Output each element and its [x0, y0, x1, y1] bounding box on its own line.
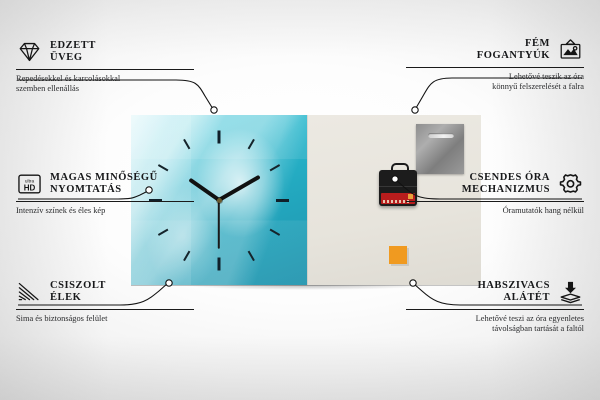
- foam-spacer-pad: [389, 246, 407, 264]
- hour-tick-6: [218, 257, 221, 270]
- metal-hanger-plate: [416, 124, 464, 174]
- callout-title-line2: ÉLEK: [50, 292, 106, 304]
- callout-foam-pad[interactable]: HABSZIVACS ALÁTÉT Lehetővé teszi az óra …: [406, 280, 584, 335]
- callout-title-line1: MAGAS MINŐSÉGŰ: [50, 172, 158, 184]
- callout-title-line1: CSISZOLT: [50, 280, 106, 292]
- diamond-icon: [16, 40, 43, 64]
- second-hand: [218, 200, 220, 249]
- infographic-canvas: EDZETT ÜVEG Repedésekkel és karcolásokka…: [0, 0, 600, 400]
- hour-tick-3: [276, 199, 289, 202]
- callout-desc-line2: könnyű felszerelését a falra: [406, 82, 584, 92]
- callout-head: EDZETT ÜVEG: [16, 40, 194, 65]
- callout-title-line1: EDZETT: [50, 40, 96, 52]
- callout-desc-line2: szemben ellenállás: [16, 84, 194, 94]
- ultra-hd-icon: ultra HD: [16, 172, 43, 196]
- anchor-metal-handles: [412, 107, 418, 113]
- callout-title: EDZETT ÜVEG: [50, 40, 96, 65]
- callout-title: CSENDES ÓRA MECHANIZMUS: [462, 172, 550, 197]
- callout-head: CSENDES ÓRA MECHANIZMUS: [406, 172, 584, 197]
- callout-tempered-glass[interactable]: EDZETT ÜVEG Repedésekkel és karcolásokka…: [16, 40, 194, 95]
- callout-hd-print[interactable]: ultra HD MAGAS MINŐSÉGŰ NYOMTATÁS Intenz…: [16, 172, 194, 216]
- anchor-tempered-glass: [211, 107, 217, 113]
- callout-head: ultra HD MAGAS MINŐSÉGŰ NYOMTATÁS: [16, 172, 194, 197]
- callout-title-line1: FÉM: [477, 38, 550, 50]
- callout-metal-handles[interactable]: FÉM FOGANTYÚK Lehetővé teszik az óra kön…: [406, 38, 584, 93]
- callout-head: CSISZOLT ÉLEK: [16, 280, 194, 305]
- callout-divider: [16, 201, 194, 202]
- callout-head: FÉM FOGANTYÚK: [406, 38, 584, 63]
- hanger-slot: [428, 133, 454, 138]
- callout-desc-line2: távolságban tartását a faltól: [406, 324, 584, 334]
- callout-desc-line1: Lehetővé teszi az óra egyenletes: [406, 314, 584, 324]
- polished-edge-icon: [16, 280, 43, 304]
- callout-title: FÉM FOGANTYÚK: [477, 38, 550, 63]
- callout-title-line2: NYOMTATÁS: [50, 184, 158, 196]
- callout-divider: [406, 201, 584, 202]
- callout-title-line2: ALÁTÉT: [478, 292, 550, 304]
- picture-hanger-icon: [557, 38, 584, 62]
- callout-desc-line1: Óramutatók hang nélkül: [406, 206, 584, 216]
- callout-head: HABSZIVACS ALÁTÉT: [406, 280, 584, 305]
- callout-divider: [406, 309, 584, 310]
- callout-title-line1: CSENDES ÓRA: [462, 172, 550, 184]
- gear-icon: [557, 172, 584, 196]
- callout-divider: [16, 69, 194, 70]
- callout-desc-line1: Sima és biztonságos felület: [16, 314, 194, 324]
- svg-text:HD: HD: [24, 184, 36, 193]
- callout-title-line2: ÜVEG: [50, 52, 96, 64]
- callout-title: MAGAS MINŐSÉGŰ NYOMTATÁS: [50, 172, 158, 197]
- callout-desc-line1: Intenzív színek és éles kép: [16, 206, 194, 216]
- callout-divider: [16, 309, 194, 310]
- callout-divider: [406, 67, 584, 68]
- callout-title-line2: MECHANIZMUS: [462, 184, 550, 196]
- callout-title: CSISZOLT ÉLEK: [50, 280, 106, 305]
- callout-silent-movement[interactable]: CSENDES ÓRA MECHANIZMUS Óramutatók hang …: [406, 172, 584, 216]
- foam-pad-icon: [557, 280, 584, 304]
- callout-title: HABSZIVACS ALÁTÉT: [478, 280, 550, 305]
- hands-center-cap: [217, 198, 222, 203]
- callout-desc-line1: Repedésekkel és karcolásokkal: [16, 74, 194, 84]
- callout-polished-edges[interactable]: CSISZOLT ÉLEK Sima és biztonságos felüle…: [16, 280, 194, 324]
- callout-title-line1: HABSZIVACS: [478, 280, 550, 292]
- callout-title-line2: FOGANTYÚK: [477, 50, 550, 62]
- callout-desc-line1: Lehetővé teszik az óra: [406, 72, 584, 82]
- hour-tick-12: [218, 130, 221, 143]
